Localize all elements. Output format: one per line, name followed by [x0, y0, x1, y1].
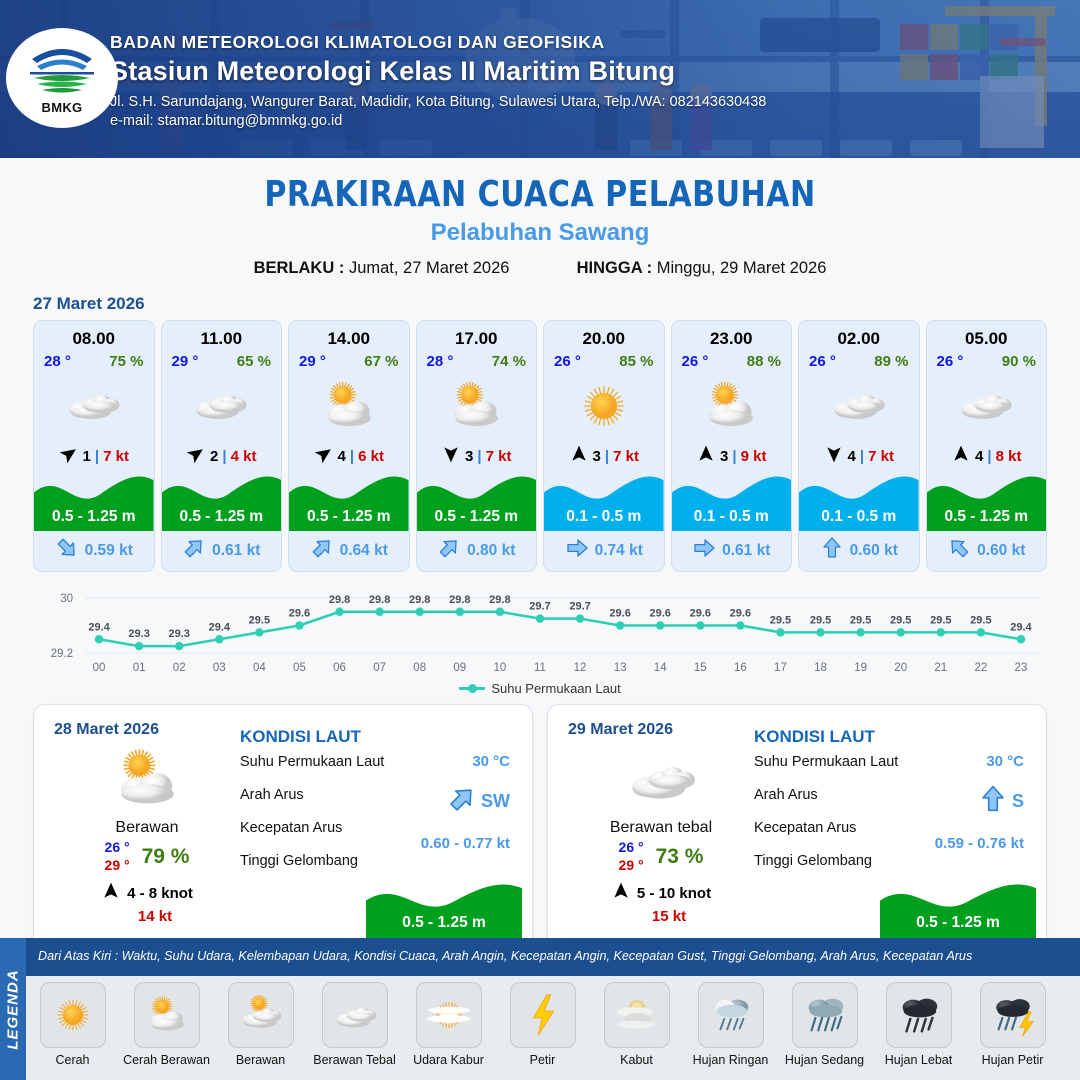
wind-direction-arrow-icon: [186, 444, 206, 468]
daily-temp-max: 29 °: [619, 857, 644, 875]
weather-rain-light-icon: [698, 982, 764, 1048]
valid-from-value: Jumat, 27 Maret 2026: [349, 259, 510, 277]
card-humidity: 67 %: [364, 353, 398, 370]
card-time: 14.00: [327, 329, 370, 349]
card-humidity: 88 %: [747, 353, 781, 370]
hourly-card: 11.00 29 ° 65 % 2 | 4 kt: [161, 320, 283, 572]
card-wind-row: 3 | 9 kt: [696, 444, 766, 468]
sst-chart-legend: Suhu Permukaan Laut: [0, 681, 1080, 696]
current-direction-arrow-icon: [55, 536, 79, 565]
card-wave-height: 0.5 - 1.25 m: [927, 469, 1047, 531]
weather-sun-icon: [40, 982, 106, 1048]
valid-from-label: BERLAKU :: [254, 259, 345, 277]
sst-label: Suhu Permukaan Laut: [754, 754, 898, 770]
sst-chart: 29.23029.40029.30129.30229.40329.50429.6…: [33, 584, 1047, 679]
current-direction-value-group: S: [978, 784, 1024, 819]
card-wind-speed: 3: [593, 448, 601, 465]
current-direction-arrow-icon: [310, 536, 334, 565]
daily-temp-min: 26 °: [619, 839, 644, 857]
svg-text:23: 23: [1015, 662, 1028, 674]
svg-text:29.8: 29.8: [409, 594, 430, 606]
daily-panel: 29 Maret 2026 Berawan tebal 26 ° 29 °: [547, 704, 1047, 952]
current-direction-row: Arah Arus S: [754, 786, 1032, 819]
current-speed-row: Kecepatan Arus 0.60 - 0.77 kt: [240, 819, 518, 852]
card-current-speed: 0.60 kt: [977, 542, 1025, 560]
legend-item-label: Petir: [530, 1053, 556, 1067]
svg-text:29.8: 29.8: [369, 594, 390, 606]
card-wave-height: 0.5 - 1.25 m: [417, 469, 537, 531]
svg-text:29.5: 29.5: [970, 614, 991, 626]
card-current-row: 0.80 kt: [417, 536, 537, 565]
weather-cloudy-icon: [63, 372, 125, 440]
svg-text:29.5: 29.5: [850, 614, 871, 626]
legend-item: Berawan Tebal: [312, 982, 397, 1067]
daily-temperature-row: 26 ° 29 ° 73 %: [568, 839, 754, 874]
daily-wave-height: 0.5 - 1.25 m: [366, 877, 522, 939]
page-title: PRAKIRAAN CUACA PELABUHAN: [38, 174, 1042, 215]
wind-direction-arrow-icon: [59, 444, 79, 468]
card-gust: 4 kt: [231, 448, 257, 465]
svg-text:29.6: 29.6: [690, 608, 711, 620]
card-gust: 9 kt: [741, 448, 767, 465]
svg-text:16: 16: [734, 662, 747, 674]
wind-separator: |: [987, 448, 991, 465]
svg-text:18: 18: [814, 662, 827, 674]
wave-height-label: Tinggi Gelombang: [754, 853, 872, 869]
legend-item-label: Berawan: [236, 1053, 285, 1067]
legend-item-label: Udara Kabur: [413, 1053, 484, 1067]
daily-date: 29 Maret 2026: [568, 721, 754, 739]
wind-separator: |: [732, 448, 736, 465]
legend-side-tab: LEGENDA: [0, 938, 26, 1080]
sst-chart-svg: 29.23029.40029.30129.30229.40329.50429.6…: [33, 584, 1047, 679]
card-wave-height: 0.1 - 0.5 m: [799, 469, 919, 531]
svg-text:07: 07: [373, 662, 386, 674]
current-direction-label: Arah Arus: [754, 787, 818, 803]
card-current-row: 0.59 kt: [34, 536, 154, 565]
sea-conditions-title: KONDISI LAUT: [754, 727, 1032, 747]
svg-text:11: 11: [534, 662, 546, 674]
daily-condition: Berawan tebal: [568, 819, 754, 837]
sst-value: 30 °C: [472, 753, 510, 770]
hourly-card: 02.00 26 ° 89 % 4 | 7 kt: [798, 320, 920, 572]
svg-text:21: 21: [934, 662, 947, 674]
card-wind-speed: 2: [210, 448, 218, 465]
daily-gust: 15 kt: [568, 908, 754, 925]
card-current-row: 0.74 kt: [544, 536, 664, 565]
wind-direction-arrow-icon: [101, 881, 121, 905]
daily-humidity: 73 %: [656, 845, 704, 869]
wind-separator: |: [350, 448, 354, 465]
svg-text:09: 09: [453, 662, 466, 674]
current-direction-row: Arah Arus SW: [240, 786, 518, 819]
card-wind-row: 3 | 7 kt: [441, 444, 511, 468]
wind-direction-arrow-icon: [569, 444, 589, 468]
card-time: 02.00: [837, 329, 880, 349]
wind-direction-arrow-icon: [824, 444, 844, 468]
station-name: Stasiun Meteorologi Kelas II Maritim Bit…: [110, 56, 766, 87]
svg-text:00: 00: [93, 662, 106, 674]
current-direction-label: Arah Arus: [240, 787, 304, 803]
daily-wind-row: 5 - 10 knot: [568, 881, 754, 905]
svg-text:29.5: 29.5: [770, 614, 791, 626]
card-temperature: 29 °: [172, 353, 199, 370]
card-current-speed: 0.74 kt: [595, 542, 643, 560]
station-address: Jl. S.H. Sarundajang, Wangurer Barat, Ma…: [110, 94, 766, 110]
legend-item: Udara Kabur: [406, 982, 491, 1067]
card-current-speed: 0.61 kt: [722, 542, 770, 560]
hourly-card: 08.00 28 ° 75 % 1 | 7 kt: [33, 320, 155, 572]
legend-item: Hujan Ringan: [688, 982, 773, 1067]
svg-text:03: 03: [213, 662, 226, 674]
daily-summary: 28 Maret 2026 Berawan 26 ° 29 ° 79 %: [34, 705, 240, 951]
hourly-card: 17.00 28 ° 74 % 3 | 7 kt 0.5 - 1.25 m: [416, 320, 538, 572]
current-direction-arrow-icon: [447, 784, 477, 819]
bmkg-logo: BMKG: [6, 28, 118, 128]
weather-cloudthick-icon: [568, 741, 754, 817]
daily-wave-height: 0.5 - 1.25 m: [880, 877, 1036, 939]
card-humidity: 65 %: [237, 353, 271, 370]
wind-separator: |: [860, 448, 864, 465]
weather-partly-icon: [134, 982, 200, 1048]
card-wind-row: 2 | 4 kt: [186, 444, 256, 468]
card-current-speed: 0.64 kt: [340, 542, 388, 560]
weather-haze-icon: [416, 982, 482, 1048]
weather-cloudy-sun-icon: [228, 982, 294, 1048]
svg-text:08: 08: [413, 662, 426, 674]
daily-panel: 28 Maret 2026 Berawan 26 ° 29 ° 79 %: [33, 704, 533, 952]
svg-text:29.2: 29.2: [51, 648, 73, 660]
card-wind-speed: 3: [465, 448, 473, 465]
weather-rain-thunder-icon: [980, 982, 1046, 1048]
svg-text:06: 06: [333, 662, 346, 674]
card-current-row: 0.60 kt: [799, 536, 919, 565]
card-current-speed: 0.61 kt: [212, 542, 260, 560]
weather-cloudy-icon: [828, 372, 890, 440]
svg-text:29.4: 29.4: [88, 621, 110, 633]
legend-item-label: Kabut: [620, 1053, 653, 1067]
weather-cloudy-icon: [190, 372, 252, 440]
wind-separator: |: [222, 448, 226, 465]
current-direction-arrow-icon: [565, 536, 589, 565]
current-direction-arrow-icon: [947, 536, 971, 565]
sst-legend-label: Suhu Permukaan Laut: [491, 681, 620, 696]
hourly-card: 20.00 26 ° 85 % 3 | 7 kt 0.1 - 0.5 m: [543, 320, 665, 572]
card-current-row: 0.61 kt: [672, 536, 792, 565]
daily-humidity: 79 %: [142, 845, 190, 869]
daily-wind-row: 4 - 8 knot: [54, 881, 240, 905]
card-temperature: 26 °: [937, 353, 964, 370]
weather-fog-icon: [604, 982, 670, 1048]
card-wind-row: 4 | 8 kt: [951, 444, 1021, 468]
card-wind-speed: 4: [338, 448, 346, 465]
page-header: BMKG BADAN METEOROLOGI KLIMATOLOGI DAN G…: [0, 0, 1080, 158]
svg-text:29.7: 29.7: [529, 601, 550, 613]
wind-direction-arrow-icon: [696, 444, 716, 468]
organization-name: BADAN METEOROLOGI KLIMATOLOGI DAN GEOFIS…: [110, 32, 766, 53]
daily-wind-speed: 4 - 8 knot: [127, 885, 193, 902]
card-temperature: 28 °: [44, 353, 71, 370]
wind-direction-arrow-icon: [441, 444, 461, 468]
card-humidity: 74 %: [492, 353, 526, 370]
svg-text:29.8: 29.8: [329, 594, 350, 606]
card-humidity: 90 %: [1002, 353, 1036, 370]
current-speed-label: Kecepatan Arus: [240, 820, 342, 836]
card-wind-row: 3 | 7 kt: [569, 444, 639, 468]
card-wave-height: 0.5 - 1.25 m: [162, 469, 282, 531]
card-current-speed: 0.60 kt: [850, 542, 898, 560]
card-current-row: 0.60 kt: [927, 536, 1047, 565]
legend-item: Petir: [500, 982, 585, 1067]
card-time: 11.00: [200, 329, 242, 349]
header-text-block: BADAN METEOROLOGI KLIMATOLOGI DAN GEOFIS…: [110, 32, 766, 129]
card-wave-height: 0.1 - 0.5 m: [672, 469, 792, 531]
station-email: e-mail: stamar.bitung@bmmkg.go.id: [110, 113, 766, 129]
current-direction-arrow-icon: [978, 784, 1008, 819]
legend-item-label: Hujan Lebat: [885, 1053, 952, 1067]
valid-until-value: Minggu, 29 Maret 2026: [657, 259, 827, 277]
legend-item: Cerah: [30, 982, 115, 1067]
hourly-card: 14.00 29 ° 67 % 4 | 6 kt 0.5 - 1.25 m: [288, 320, 410, 572]
legend-side-label: LEGENDA: [5, 969, 22, 1049]
card-temperature: 26 °: [682, 353, 709, 370]
weather-rain-heavy-icon: [886, 982, 952, 1048]
card-gust: 7 kt: [103, 448, 129, 465]
legend-line-marker-icon: [459, 687, 485, 690]
svg-text:01: 01: [133, 662, 146, 674]
card-current-speed: 0.59 kt: [85, 542, 133, 560]
svg-text:13: 13: [614, 662, 627, 674]
card-wave-height: 0.5 - 1.25 m: [34, 469, 154, 531]
svg-text:29.3: 29.3: [128, 628, 149, 640]
valid-until-label: HINGGA :: [577, 259, 652, 277]
current-direction-arrow-icon: [692, 536, 716, 565]
card-humidity: 85 %: [619, 353, 653, 370]
sea-conditions-title: KONDISI LAUT: [240, 727, 518, 747]
legend-item: Berawan: [218, 982, 303, 1067]
current-direction-value-group: SW: [447, 784, 510, 819]
daily-wind-speed: 5 - 10 knot: [637, 885, 711, 902]
daily-gust: 14 kt: [54, 908, 240, 925]
card-time: 23.00: [710, 329, 753, 349]
hourly-card: 05.00 26 ° 90 % 4 | 8 kt: [926, 320, 1048, 572]
daily-date: 28 Maret 2026: [54, 721, 240, 739]
wind-direction-arrow-icon: [951, 444, 971, 468]
card-temperature: 26 °: [809, 353, 836, 370]
weather-cloudthick-icon: [322, 982, 388, 1048]
svg-text:10: 10: [493, 662, 506, 674]
svg-text:29.5: 29.5: [249, 614, 270, 626]
svg-text:14: 14: [654, 662, 667, 674]
daily-summary: 29 Maret 2026 Berawan tebal 26 ° 29 °: [548, 705, 754, 951]
wind-direction-arrow-icon: [314, 444, 334, 468]
card-humidity: 89 %: [874, 353, 908, 370]
sst-value: 30 °C: [986, 753, 1024, 770]
svg-text:29.8: 29.8: [449, 594, 470, 606]
weather-partly-icon: [700, 372, 762, 440]
card-gust: 7 kt: [613, 448, 639, 465]
weather-cloudy-icon: [955, 372, 1017, 440]
card-wind-speed: 3: [720, 448, 728, 465]
card-current-speed: 0.80 kt: [467, 542, 515, 560]
current-direction-value: S: [1012, 791, 1024, 812]
legend-item: Kabut: [594, 982, 679, 1067]
card-time: 20.00: [582, 329, 625, 349]
legend-note: Dari Atas Kiri : Waktu, Suhu Udara, Kele…: [38, 948, 972, 963]
current-speed-value: 0.59 - 0.76 kt: [935, 835, 1024, 852]
svg-text:29.6: 29.6: [289, 608, 310, 620]
card-wind-speed: 1: [83, 448, 91, 465]
card-temperature: 29 °: [299, 353, 326, 370]
svg-text:29.6: 29.6: [609, 608, 630, 620]
hourly-forecast-cards: 08.00 28 ° 75 % 1 | 7 kt: [0, 320, 1080, 572]
svg-text:29.4: 29.4: [1010, 621, 1032, 633]
card-wave-height: 0.1 - 0.5 m: [544, 469, 664, 531]
wind-separator: |: [605, 448, 609, 465]
legend-item: Hujan Sedang: [782, 982, 867, 1067]
card-time: 17.00: [455, 329, 498, 349]
daily-condition: Berawan: [54, 819, 240, 837]
svg-text:17: 17: [774, 662, 787, 674]
legend-items: Cerah Cerah Berawan: [30, 982, 1070, 1067]
daily-temp-min: 26 °: [105, 839, 130, 857]
card-gust: 6 kt: [358, 448, 384, 465]
card-time: 08.00: [72, 329, 115, 349]
daily-forecast-panels: 28 Maret 2026 Berawan 26 ° 29 ° 79 %: [0, 704, 1080, 952]
legend-item-label: Cerah Berawan: [123, 1053, 210, 1067]
sst-label: Suhu Permukaan Laut: [240, 754, 384, 770]
svg-text:29.4: 29.4: [209, 621, 231, 633]
weather-partly-icon: [445, 372, 507, 440]
svg-text:02: 02: [173, 662, 186, 674]
svg-text:12: 12: [574, 662, 587, 674]
hourly-date-label: 27 Maret 2026: [33, 294, 1080, 314]
card-temperature: 28 °: [427, 353, 454, 370]
wind-separator: |: [95, 448, 99, 465]
port-name: Pelabuhan Sawang: [0, 219, 1080, 247]
page-title-block: PRAKIRAAN CUACA PELABUHAN Pelabuhan Sawa…: [0, 174, 1080, 278]
bmkg-logo-text: BMKG: [42, 100, 83, 115]
svg-text:29.5: 29.5: [890, 614, 911, 626]
legend-item: Hujan Lebat: [876, 982, 961, 1067]
card-wind-row: 1 | 7 kt: [59, 444, 129, 468]
svg-text:29.6: 29.6: [730, 608, 751, 620]
wave-height-label: Tinggi Gelombang: [240, 853, 358, 869]
weather-partly-icon: [318, 372, 380, 440]
card-humidity: 75 %: [109, 353, 143, 370]
card-wind-speed: 4: [975, 448, 983, 465]
legend-item: Hujan Petir: [970, 982, 1055, 1067]
legend-item-label: Berawan Tebal: [313, 1053, 395, 1067]
svg-text:05: 05: [293, 662, 306, 674]
svg-text:30: 30: [60, 593, 73, 605]
sea-conditions: KONDISI LAUT Suhu Permukaan Laut 30 °C A…: [754, 705, 1046, 951]
sst-row: Suhu Permukaan Laut 30 °C: [754, 753, 1032, 786]
current-direction-arrow-icon: [182, 536, 206, 565]
svg-text:20: 20: [894, 662, 907, 674]
card-gust: 7 kt: [868, 448, 894, 465]
weather-sun-icon: [573, 372, 635, 440]
card-wind-speed: 4: [848, 448, 856, 465]
card-temperature: 26 °: [554, 353, 581, 370]
legend-item-label: Hujan Ringan: [693, 1053, 769, 1067]
svg-text:04: 04: [253, 662, 266, 674]
svg-text:29.5: 29.5: [810, 614, 831, 626]
weather-bolt-icon: [510, 982, 576, 1048]
svg-text:19: 19: [854, 662, 867, 674]
card-gust: 8 kt: [996, 448, 1022, 465]
legend-section: Dari Atas Kiri : Waktu, Suhu Udara, Kele…: [0, 938, 1080, 1080]
svg-text:29.6: 29.6: [649, 608, 670, 620]
card-current-row: 0.61 kt: [162, 536, 282, 565]
card-gust: 7 kt: [486, 448, 512, 465]
bmkg-logo-mark: [24, 41, 100, 99]
validity-row: BERLAKU : Jumat, 27 Maret 2026 HINGGA : …: [0, 259, 1080, 278]
svg-text:29.5: 29.5: [930, 614, 951, 626]
card-wave-height: 0.5 - 1.25 m: [289, 469, 409, 531]
sea-conditions: KONDISI LAUT Suhu Permukaan Laut 30 °C A…: [240, 705, 532, 951]
legend-item-label: Hujan Sedang: [785, 1053, 864, 1067]
sst-row: Suhu Permukaan Laut 30 °C: [240, 753, 518, 786]
weather-rain-mod-icon: [792, 982, 858, 1048]
wind-direction-arrow-icon: [611, 881, 631, 905]
hourly-card: 23.00 26 ° 88 % 3 | 9 kt 0.1 - 0.5 m: [671, 320, 793, 572]
svg-text:29.8: 29.8: [489, 594, 510, 606]
svg-text:15: 15: [694, 662, 707, 674]
current-speed-value: 0.60 - 0.77 kt: [421, 835, 510, 852]
current-direction-value: SW: [481, 791, 510, 812]
svg-text:22: 22: [974, 662, 987, 674]
daily-temperature-row: 26 ° 29 ° 79 %: [54, 839, 240, 874]
weather-partly-icon: [54, 741, 240, 817]
current-speed-row: Kecepatan Arus 0.59 - 0.76 kt: [754, 819, 1032, 852]
legend-item-label: Hujan Petir: [982, 1053, 1044, 1067]
current-direction-arrow-icon: [820, 536, 844, 565]
svg-text:29.7: 29.7: [569, 601, 590, 613]
daily-temp-max: 29 °: [105, 857, 130, 875]
card-wind-row: 4 | 6 kt: [314, 444, 384, 468]
current-speed-label: Kecepatan Arus: [754, 820, 856, 836]
card-wind-row: 4 | 7 kt: [824, 444, 894, 468]
card-current-row: 0.64 kt: [289, 536, 409, 565]
legend-item: Cerah Berawan: [124, 982, 209, 1067]
svg-text:29.3: 29.3: [168, 628, 189, 640]
card-time: 05.00: [965, 329, 1008, 349]
wind-separator: |: [477, 448, 481, 465]
current-direction-arrow-icon: [437, 536, 461, 565]
legend-item-label: Cerah: [55, 1053, 89, 1067]
